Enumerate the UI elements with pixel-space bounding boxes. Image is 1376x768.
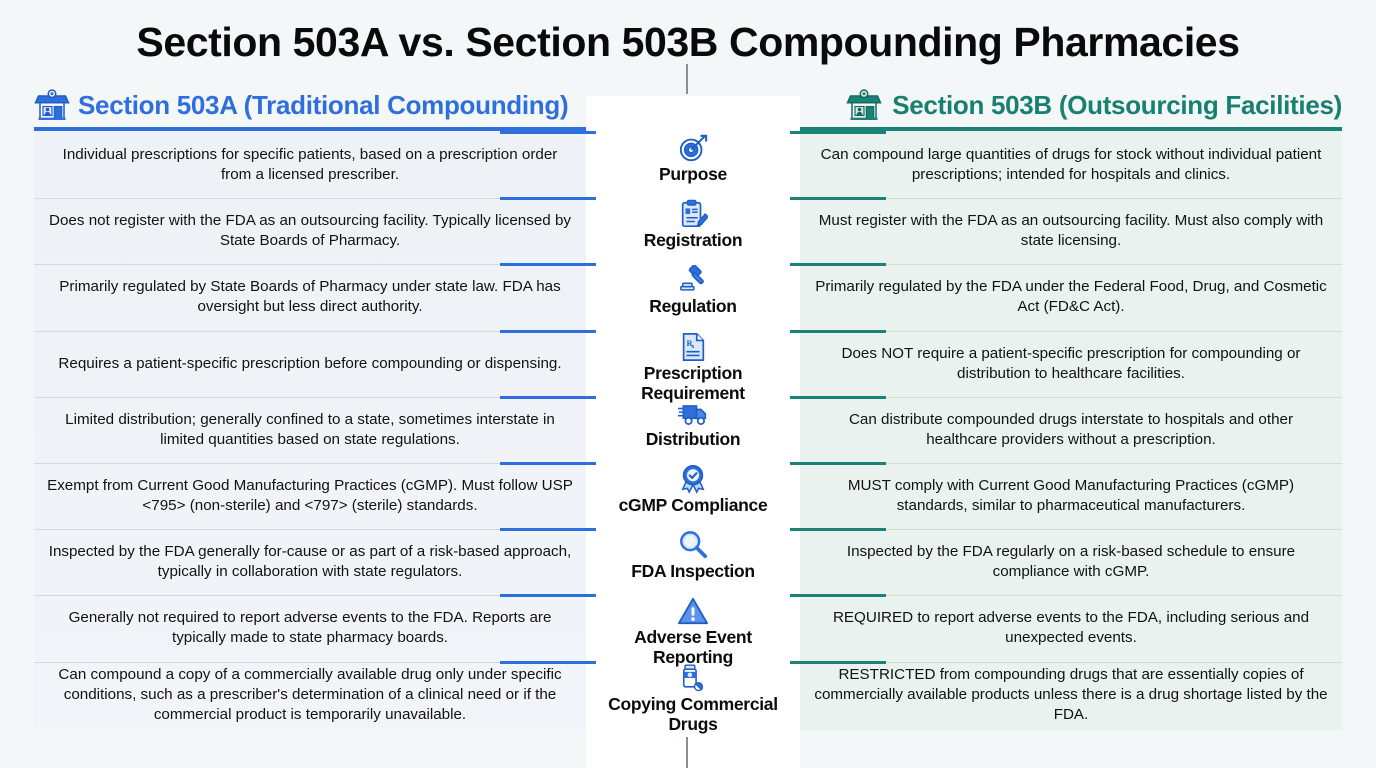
- infographic-root: Section 503A vs. Section 503B Compoundin…: [0, 0, 1376, 768]
- row-category: Copying Commercial Drugs: [586, 662, 800, 728]
- row-cell-503a: Exempt from Current Good Manufacturing P…: [34, 465, 586, 527]
- target-icon: [678, 133, 708, 163]
- row-cell-503a: Inspected by the FDA generally for-cause…: [34, 531, 586, 593]
- row-cell-503a: Does not register with the FDA as an out…: [34, 200, 586, 262]
- row-category: RxPrescription Requirement: [586, 331, 800, 397]
- axis-stub-bottom: [686, 737, 688, 768]
- row-cell-503b: Inspected by the FDA regularly on a risk…: [800, 531, 1342, 593]
- row-cell-503a: Primarily regulated by State Boards of P…: [34, 266, 586, 328]
- row-category: Distribution: [586, 397, 800, 463]
- row-category-label: Distribution: [646, 429, 741, 449]
- row-category-label: Regulation: [649, 296, 736, 316]
- row-category: Adverse Event Reporting: [586, 595, 800, 661]
- row-cell-503b: Can compound large quantities of drugs f…: [800, 134, 1342, 196]
- row-cell-503a: Individual prescriptions for specific pa…: [34, 134, 586, 196]
- column-header-503b: Section 503B (Outsourcing Facilities): [800, 84, 1342, 126]
- row-category: Purpose: [586, 132, 800, 198]
- gavel-icon: [678, 265, 708, 295]
- pharmacy-storefront-icon: [846, 87, 882, 123]
- row-cell-503b: REQUIRED to report adverse events to the…: [800, 597, 1342, 659]
- pharmacy-storefront-icon: [34, 87, 70, 123]
- column-header-503a-label: Section 503A (Traditional Compounding): [78, 90, 568, 121]
- row-category: Regulation: [586, 264, 800, 330]
- column-header-503b-label: Section 503B (Outsourcing Facilities): [892, 90, 1342, 121]
- row-cell-503b: Does NOT require a patient-specific pres…: [800, 333, 1342, 395]
- row-cell-503a: Requires a patient-specific prescription…: [34, 333, 586, 395]
- row-category-label: cGMP Compliance: [619, 495, 768, 515]
- row-category-label: Copying Commercial Drugs: [598, 694, 788, 734]
- row-cell-503a: Limited distribution; generally confined…: [34, 399, 586, 461]
- page-title: Section 503A vs. Section 503B Compoundin…: [0, 14, 1376, 70]
- row-cell-503a: Generally not required to report adverse…: [34, 597, 586, 659]
- row-category-label: FDA Inspection: [631, 561, 755, 581]
- row-cell-503b: RESTRICTED from compounding drugs that a…: [800, 664, 1342, 726]
- column-header-503a: Section 503A (Traditional Compounding): [34, 84, 586, 126]
- row-cell-503a: Can compound a copy of a commercially av…: [34, 664, 586, 726]
- row-category-label: Registration: [644, 230, 743, 250]
- warning-triangle-icon: [678, 596, 708, 626]
- row-cell-503b: MUST comply with Current Good Manufactur…: [800, 465, 1342, 527]
- row-cell-503b: Primarily regulated by the FDA under the…: [800, 266, 1342, 328]
- medicine-bottle-pill-icon: [678, 663, 708, 693]
- row-cell-503b: Can distribute compounded drugs intersta…: [800, 399, 1342, 461]
- axis-stub-top: [686, 64, 688, 94]
- delivery-truck-icon: [678, 398, 708, 428]
- row-category: Registration: [586, 198, 800, 264]
- row-cell-503b: Must register with the FDA as an outsour…: [800, 200, 1342, 262]
- rx-document-icon: Rx: [678, 332, 708, 362]
- row-category: cGMP Compliance: [586, 463, 800, 529]
- magnifying-glass-icon: [678, 530, 708, 560]
- row-category-label: Purpose: [659, 164, 727, 184]
- award-ribbon-check-icon: [678, 464, 708, 494]
- clipboard-pen-icon: [678, 199, 708, 229]
- row-category: FDA Inspection: [586, 529, 800, 595]
